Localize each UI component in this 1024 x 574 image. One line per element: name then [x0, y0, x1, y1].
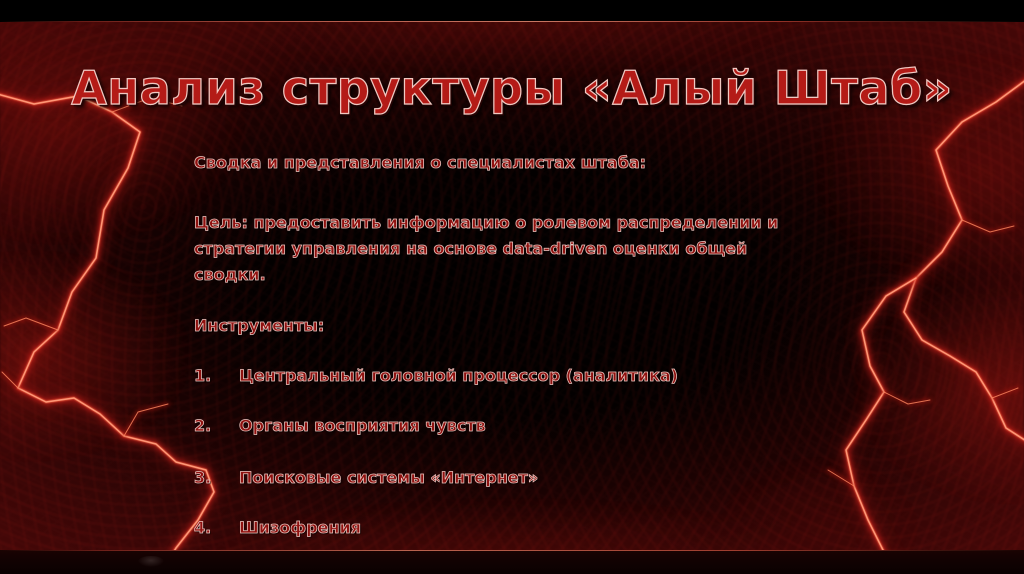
- list-item: 4. Шизофрения: [194, 515, 814, 541]
- slide-canvas: Анализ структуры «Алый Штаб» Сводка и пр…: [0, 0, 1024, 574]
- list-item-number: 3.: [194, 465, 228, 491]
- list-item: 1. Центральный головной процессор (анали…: [194, 363, 814, 389]
- summary-heading: Сводка и представления о специалистах шт…: [194, 150, 814, 176]
- lightning-bolt-left: [0, 92, 214, 574]
- list-item-number: 2.: [194, 413, 228, 439]
- list-item-number: 4.: [194, 515, 228, 541]
- list-item-label: Поисковые системы «Интернет»: [239, 465, 814, 491]
- tools-heading: Инструменты:: [194, 288, 814, 339]
- list-item-number: 1.: [194, 363, 228, 389]
- bottom-border-band: [0, 550, 1024, 574]
- goal-paragraph: Цель: предоставить информацию о ролевом …: [194, 176, 794, 288]
- list-item-label: Органы восприятия чувств: [239, 413, 814, 439]
- lightning-twigs-right: [828, 220, 1018, 486]
- list-item: 3. Поисковые системы «Интернет»: [194, 465, 814, 491]
- list-item-label: Шизофрения: [239, 515, 814, 541]
- lightning-bolt-right: [904, 74, 1024, 446]
- list-item: 2. Органы восприятия чувств: [194, 413, 814, 439]
- top-border-band: [0, 0, 1024, 22]
- slide-title: Анализ структуры «Алый Штаб»: [0, 61, 1024, 115]
- list-item-label: Центральный головной процессор (аналитик…: [239, 363, 814, 389]
- slide-body: Сводка и представления о специалистах шт…: [194, 150, 814, 541]
- lightning-twigs-left: [2, 98, 182, 436]
- tools-list: 1. Центральный головной процессор (анали…: [194, 339, 814, 541]
- lightning-branch-right-lower: [846, 278, 916, 574]
